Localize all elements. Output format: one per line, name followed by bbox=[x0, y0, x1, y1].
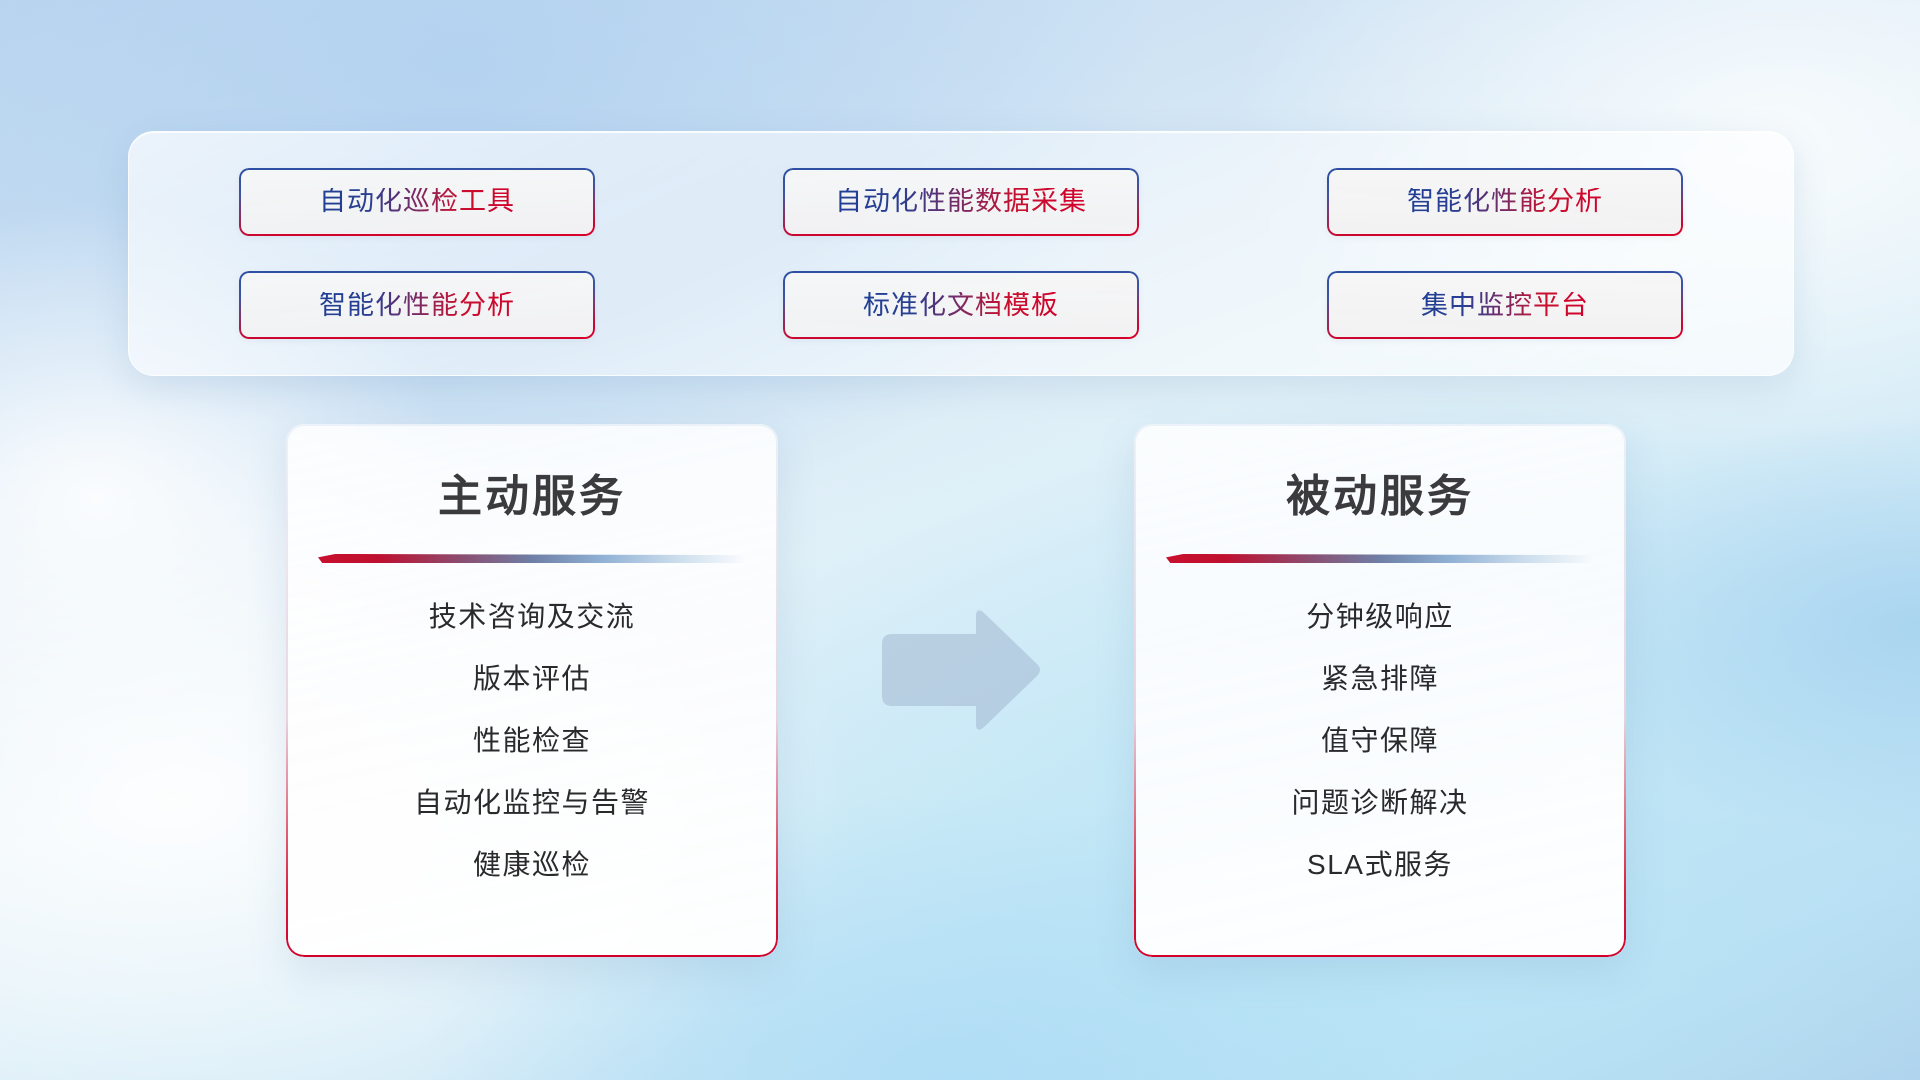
flow-arrow-right-icon bbox=[872, 608, 1040, 734]
list-item: 问题诊断解决 bbox=[1291, 789, 1468, 817]
capability-tag[interactable]: 集中监控平台 bbox=[1327, 271, 1683, 339]
title-underline-rule bbox=[1166, 554, 1594, 563]
capability-tag[interactable]: 自动化性能数据采集 bbox=[783, 168, 1139, 236]
title-underline-bar bbox=[318, 554, 746, 563]
service-item-list: 技术咨询及交流 版本评估 性能检查 自动化监控与告警 健康巡检 bbox=[286, 603, 778, 879]
capability-tag-label: 智能化性能分析 bbox=[319, 292, 515, 319]
capability-tag[interactable]: 自动化巡检工具 bbox=[239, 168, 595, 236]
capability-tag[interactable]: 标准化文档模板 bbox=[783, 271, 1139, 339]
list-item: 技术咨询及交流 bbox=[429, 603, 636, 631]
service-card-passive[interactable]: 被动服务 分钟级响应 紧急排障 值守保障 问题诊断解决 SLA式服务 bbox=[1134, 424, 1626, 957]
capability-tag-label: 自动化巡检工具 bbox=[319, 188, 515, 215]
title-underline-rule bbox=[318, 554, 746, 563]
diagram-canvas: 自动化巡检工具 自动化性能数据采集 智能化性能分析 智能化性能分析 标准化文档模… bbox=[0, 0, 1920, 1080]
card-title: 主动服务 bbox=[286, 460, 778, 524]
card-title: 被动服务 bbox=[1134, 460, 1626, 524]
capability-tag-label: 智能化性能分析 bbox=[1407, 188, 1603, 215]
list-item: 健康巡检 bbox=[473, 851, 591, 879]
capability-tag-label: 自动化性能数据采集 bbox=[835, 188, 1087, 215]
list-item: SLA式服务 bbox=[1307, 851, 1453, 879]
list-item: 分钟级响应 bbox=[1306, 603, 1454, 631]
list-item: 紧急排障 bbox=[1321, 665, 1439, 693]
list-item: 值守保障 bbox=[1321, 727, 1439, 755]
capability-tag[interactable]: 智能化性能分析 bbox=[239, 271, 595, 339]
list-item: 性能检查 bbox=[473, 727, 591, 755]
service-card-active[interactable]: 主动服务 技术咨询及交流 版本评估 性能检查 自动化监控与告警 健康巡检 bbox=[286, 424, 778, 957]
capability-tag[interactable]: 智能化性能分析 bbox=[1327, 168, 1683, 236]
list-item: 版本评估 bbox=[473, 665, 591, 693]
capability-tag-label: 标准化文档模板 bbox=[863, 292, 1059, 319]
capability-tag-panel: 自动化巡检工具 自动化性能数据采集 智能化性能分析 智能化性能分析 标准化文档模… bbox=[128, 131, 1794, 376]
title-underline-bar bbox=[1166, 554, 1594, 563]
service-item-list: 分钟级响应 紧急排障 值守保障 问题诊断解决 SLA式服务 bbox=[1134, 603, 1626, 879]
list-item: 自动化监控与告警 bbox=[414, 789, 650, 817]
capability-tag-label: 集中监控平台 bbox=[1421, 292, 1589, 319]
